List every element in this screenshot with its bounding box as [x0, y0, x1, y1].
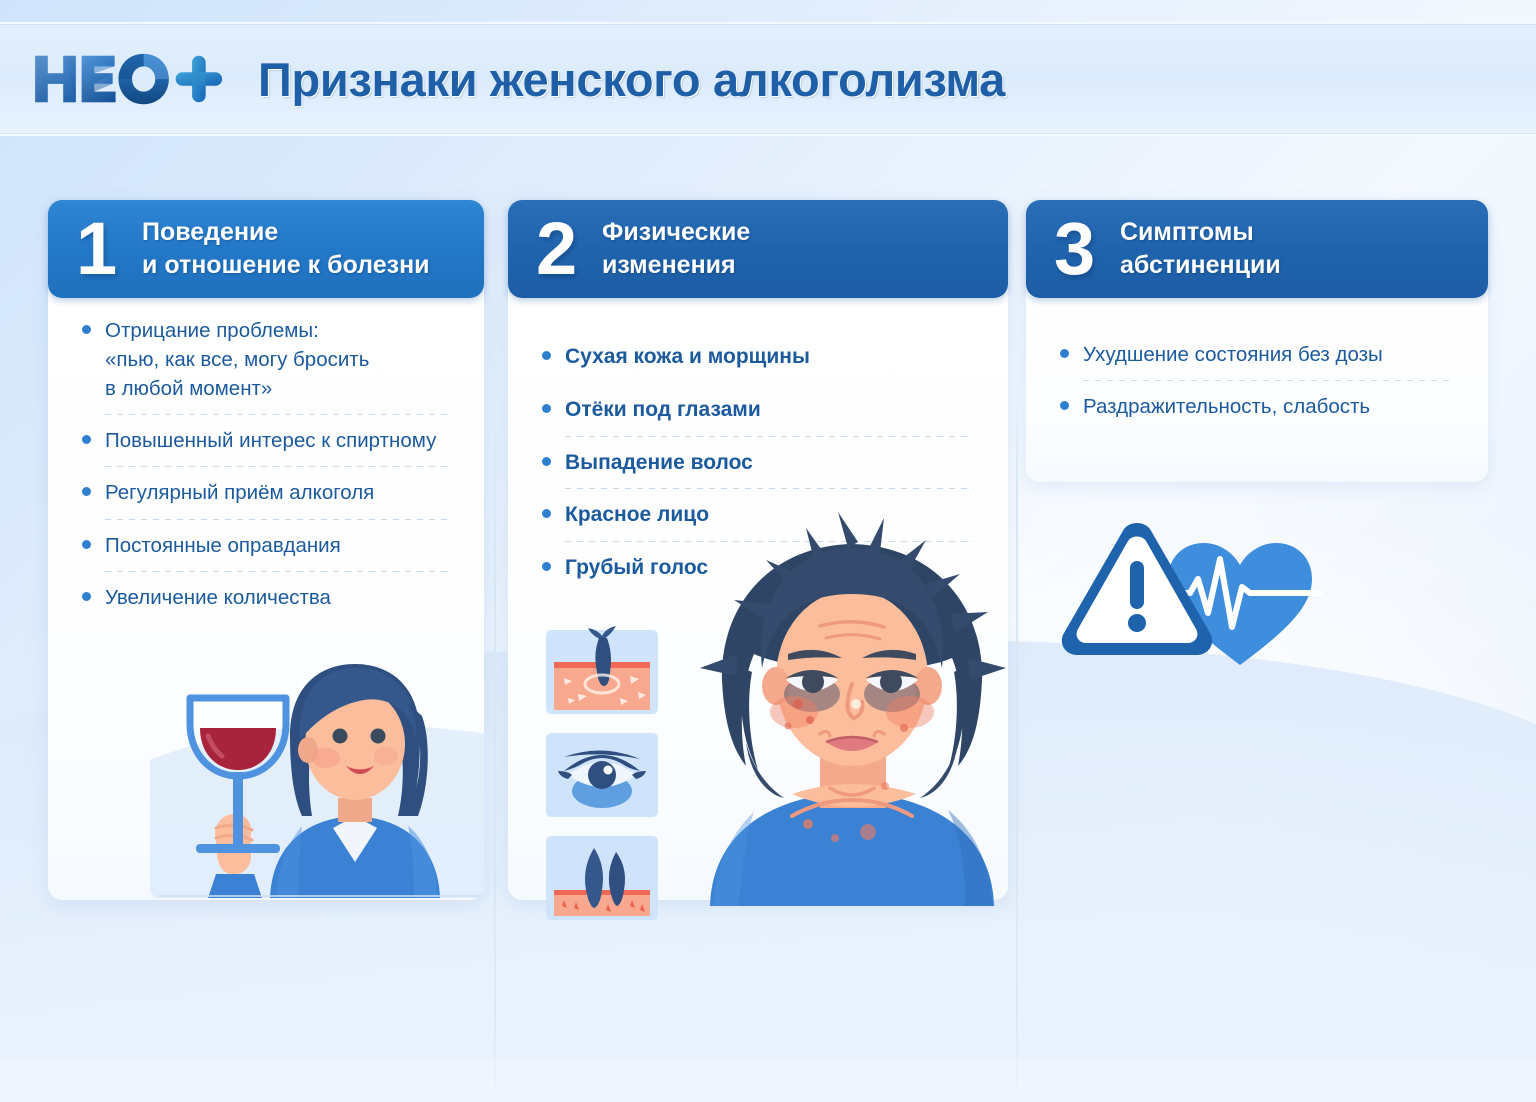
list-separator — [105, 571, 450, 572]
list-item: Выпадение волос — [508, 448, 1008, 478]
card-divider-2 — [1016, 402, 1018, 1102]
list-item: Ухудшение состояния без дозы — [1026, 340, 1488, 369]
list-item-label: Увеличение количества — [105, 583, 331, 612]
card-title-line2: и отношение к болезни — [142, 249, 430, 282]
card-header-3: 3 Симптомы абстиненции — [1026, 200, 1488, 298]
bullet-dot — [1060, 401, 1069, 410]
bullet-dot — [82, 540, 91, 549]
list-separator — [1083, 380, 1454, 381]
list-separator — [565, 541, 974, 542]
card-3-list: Ухудшение состояния без дозы Раздражител… — [1026, 340, 1488, 421]
list-item-label: Отёки под глазами — [565, 395, 761, 425]
card-title-3: Симптомы абстиненции — [1120, 216, 1281, 282]
list-separator — [105, 466, 450, 467]
list-item-label: Ухудшение состояния без дозы — [1083, 340, 1383, 369]
card-title-line1: Физические — [602, 216, 750, 249]
card-1-list: Отрицание проблемы: «пью, как все, могу … — [48, 316, 484, 612]
bullet-dot — [82, 487, 91, 496]
card-title-2: Физические изменения — [602, 216, 750, 282]
bullet-dot — [542, 509, 551, 518]
card-header-1: 1 Поведение и отношение к болезни — [48, 200, 484, 298]
neo-plus-logo — [30, 47, 236, 111]
card-title-line2: абстиненции — [1120, 249, 1281, 282]
list-item-label: Сухая кожа и морщины — [565, 342, 810, 372]
page-header: Признаки женского алкоголизма — [0, 22, 1536, 136]
list-item-label: Грубый голос — [565, 553, 708, 583]
bullet-dot — [82, 592, 91, 601]
bullet-dot — [542, 457, 551, 466]
card-divider-1 — [494, 402, 496, 1102]
card-header-2: 2 Физические изменения — [508, 200, 1008, 298]
cards-row: 1 Поведение и отношение к болезни Отрица… — [0, 200, 1536, 960]
card-number-3: 3 — [1054, 212, 1116, 286]
list-separator — [565, 436, 974, 437]
list-separator — [565, 488, 974, 489]
card-number-2: 2 — [536, 212, 598, 286]
card-number-1: 1 — [76, 212, 138, 286]
list-item-label: Раздражительность, слабость — [1083, 392, 1370, 421]
list-item: Красное лицо — [508, 500, 1008, 530]
card-title-line1: Поведение — [142, 216, 430, 249]
card-title-1: Поведение и отношение к болезни — [142, 216, 430, 282]
list-item-label: Регулярный приём алкоголя — [105, 478, 374, 507]
list-item-label: Постоянные оправдания — [105, 531, 341, 560]
list-item-label: Отрицание проблемы: «пью, как все, могу … — [105, 316, 369, 403]
bullet-dot — [82, 435, 91, 444]
list-item-label: Красное лицо — [565, 500, 709, 530]
bullet-dot — [82, 325, 91, 334]
list-item: Увеличение количества — [48, 583, 484, 612]
bullet-dot — [1060, 349, 1069, 358]
list-item: Постоянные оправдания — [48, 531, 484, 560]
list-item: Сухая кожа и морщины — [508, 342, 1008, 372]
list-separator — [105, 414, 450, 415]
bullet-dot — [542, 404, 551, 413]
bullet-dot — [542, 562, 551, 571]
list-item: Повышенный интерес к спиртному — [48, 426, 484, 455]
card-title-line2: изменения — [602, 249, 750, 282]
list-item: Грубый голос — [508, 553, 1008, 583]
list-item-label: Выпадение волос — [565, 448, 753, 478]
page-title: Признаки женского алкоголизма — [258, 52, 1005, 107]
list-separator — [105, 519, 450, 520]
list-item: Отёки под глазами — [508, 395, 1008, 425]
list-item: Отрицание проблемы: «пью, как все, могу … — [48, 316, 484, 403]
card-title-line1: Симптомы — [1120, 216, 1281, 249]
list-item: Регулярный приём алкоголя — [48, 478, 484, 507]
list-item-label: Повышенный интерес к спиртному — [105, 426, 436, 455]
list-item: Раздражительность, слабость — [1026, 392, 1488, 421]
bullet-dot — [542, 351, 551, 360]
card-2-list: Сухая кожа и морщины Отёки под глазами В… — [508, 342, 1008, 583]
